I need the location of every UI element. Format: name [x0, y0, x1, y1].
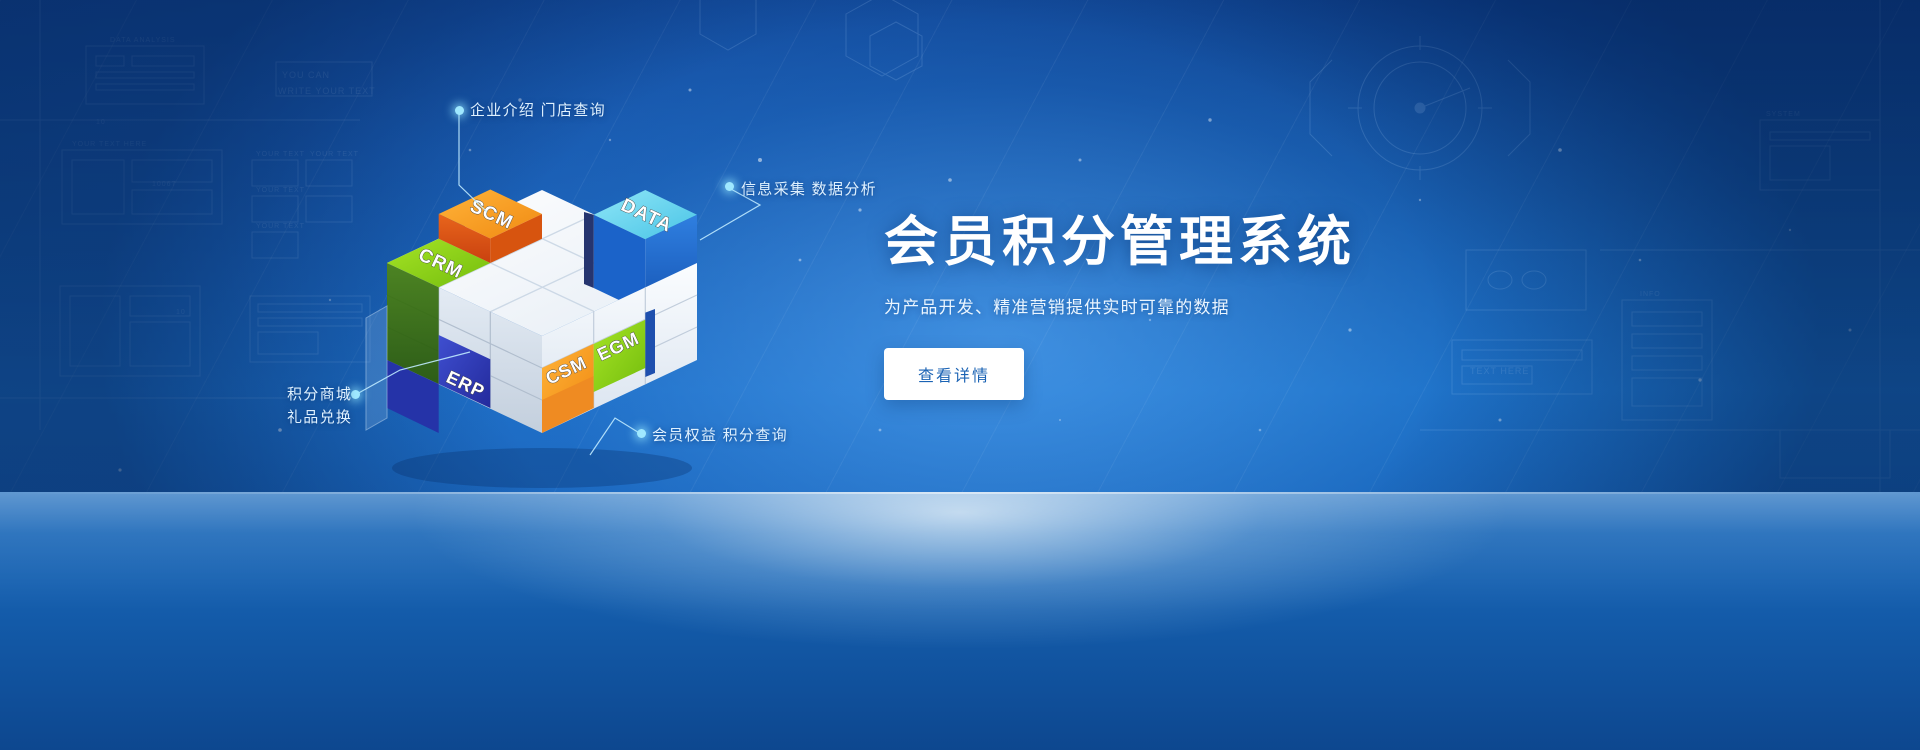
svg-text:YOU CAN: YOU CAN [282, 70, 330, 80]
svg-text:INFO: INFO [1640, 291, 1661, 298]
page-title: 会员积分管理系统 [884, 214, 1524, 271]
svg-text:10: 10 [176, 309, 186, 316]
page-subtitle: 为产品开发、精准营销提供实时可靠的数据 [884, 293, 1524, 318]
annotation-left-label-line2: 礼品兑换 [287, 406, 352, 429]
cube-glass-slab [366, 306, 387, 430]
annotation-bottom-label: 会员权益 积分查询 [652, 427, 788, 444]
annotation-dot-left [351, 390, 360, 399]
annotation-top: 企业介绍 门店查询 [470, 99, 606, 120]
view-details-button[interactable]: 查看详情 [884, 348, 1024, 400]
floor-horizon-line [0, 492, 1920, 494]
annotation-right-label: 信息采集 数据分析 [741, 181, 877, 198]
isometric-cube-illustration: CRM SCM DATA [352, 168, 732, 508]
annotation-dot-top [455, 106, 464, 115]
hero-copy-block: 会员积分管理系统 为产品开发、精准营销提供实时可靠的数据 查看详情 [884, 214, 1524, 400]
annotation-top-label: 企业介绍 门店查询 [470, 102, 606, 119]
reflection-floor [0, 492, 1920, 750]
svg-text:YOUR TEXT: YOUR TEXT [256, 223, 305, 230]
annotation-left: 积分商城 礼品兑换 [287, 383, 352, 430]
annotation-dot-bottom [637, 429, 646, 438]
annotation-dot-right [725, 182, 734, 191]
annotation-bottom: 会员权益 积分查询 [652, 424, 788, 445]
svg-text:YOUR TEXT: YOUR TEXT [310, 151, 359, 158]
annotation-left-label-line1: 积分商城 [287, 383, 352, 406]
svg-text:WRITE YOUR TEXT: WRITE YOUR TEXT [278, 86, 376, 96]
svg-text:SYSTEM: SYSTEM [1766, 111, 1801, 118]
svg-text:10: 10 [96, 119, 106, 126]
svg-text:YOUR TEXT HERE: YOUR TEXT HERE [72, 141, 147, 148]
svg-text:10067: 10067 [152, 181, 176, 188]
hero-banner: DATA ANALYSIS YOUR TEXT HERE YOUR TEXT Y… [0, 0, 1920, 750]
svg-text:YOUR TEXT: YOUR TEXT [256, 151, 305, 158]
svg-text:DATA ANALYSIS: DATA ANALYSIS [110, 37, 176, 44]
svg-text:YOUR TEXT: YOUR TEXT [256, 187, 305, 194]
annotation-right: 信息采集 数据分析 [741, 178, 877, 199]
